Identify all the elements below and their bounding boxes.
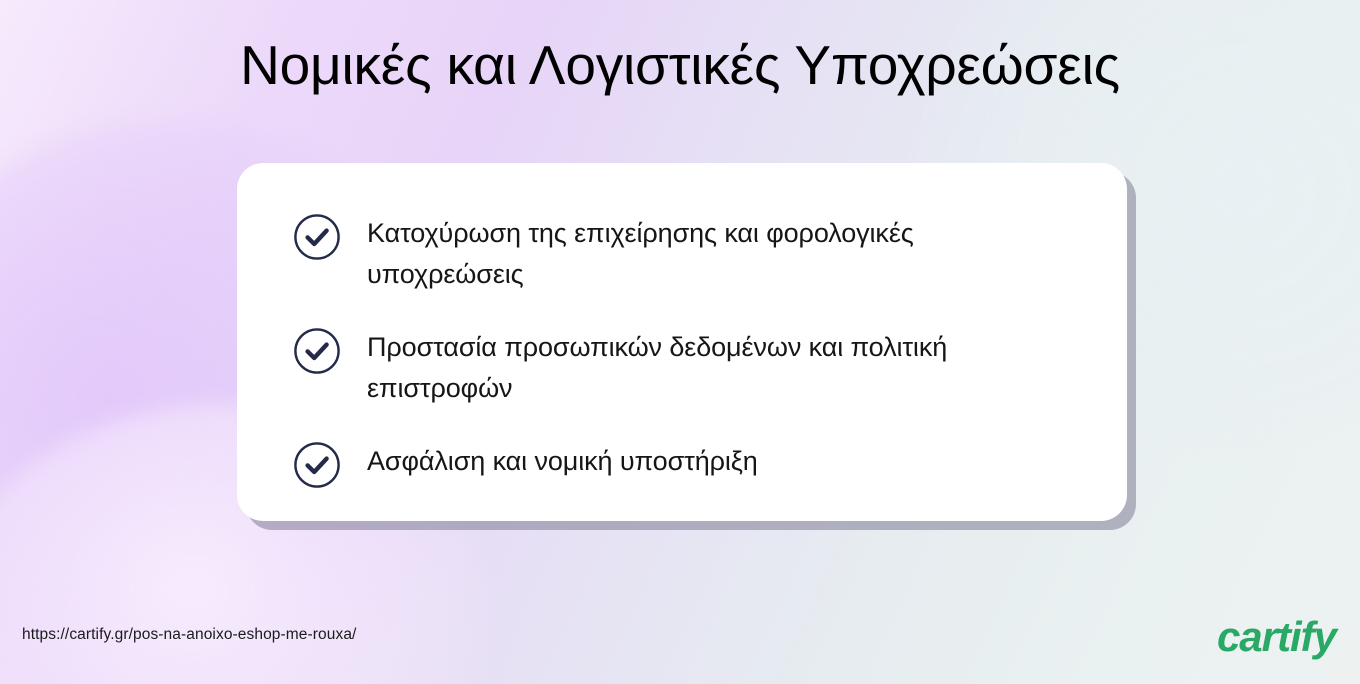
cartify-logo: cartify xyxy=(1217,616,1336,658)
checklist: Κατοχύρωση της επιχείρησης και φορολογικ… xyxy=(293,211,1087,489)
check-circle-icon xyxy=(293,327,341,375)
checklist-card: Κατοχύρωση της επιχείρησης και φορολογικ… xyxy=(237,163,1127,521)
source-url-link[interactable]: https://cartify.gr/pos-na-anoixo-eshop-m… xyxy=(22,626,356,644)
list-item-label: Κατοχύρωση της επιχείρησης και φορολογικ… xyxy=(367,211,967,295)
list-item: Προστασία προσωπικών δεδομένων και πολιτ… xyxy=(293,325,1087,409)
list-item: Κατοχύρωση της επιχείρησης και φορολογικ… xyxy=(293,211,1087,295)
slide-canvas: Νομικές και Λογιστικές Υποχρεώσεις Κατοχ… xyxy=(0,0,1360,684)
list-item: Ασφάλιση και νομική υποστήριξη xyxy=(293,439,1087,489)
check-circle-icon xyxy=(293,441,341,489)
check-circle-icon xyxy=(293,213,341,261)
page-title: Νομικές και Λογιστικές Υποχρεώσεις xyxy=(0,34,1360,97)
list-item-label: Ασφάλιση και νομική υποστήριξη xyxy=(367,439,758,482)
list-item-label: Προστασία προσωπικών δεδομένων και πολιτ… xyxy=(367,325,1067,409)
